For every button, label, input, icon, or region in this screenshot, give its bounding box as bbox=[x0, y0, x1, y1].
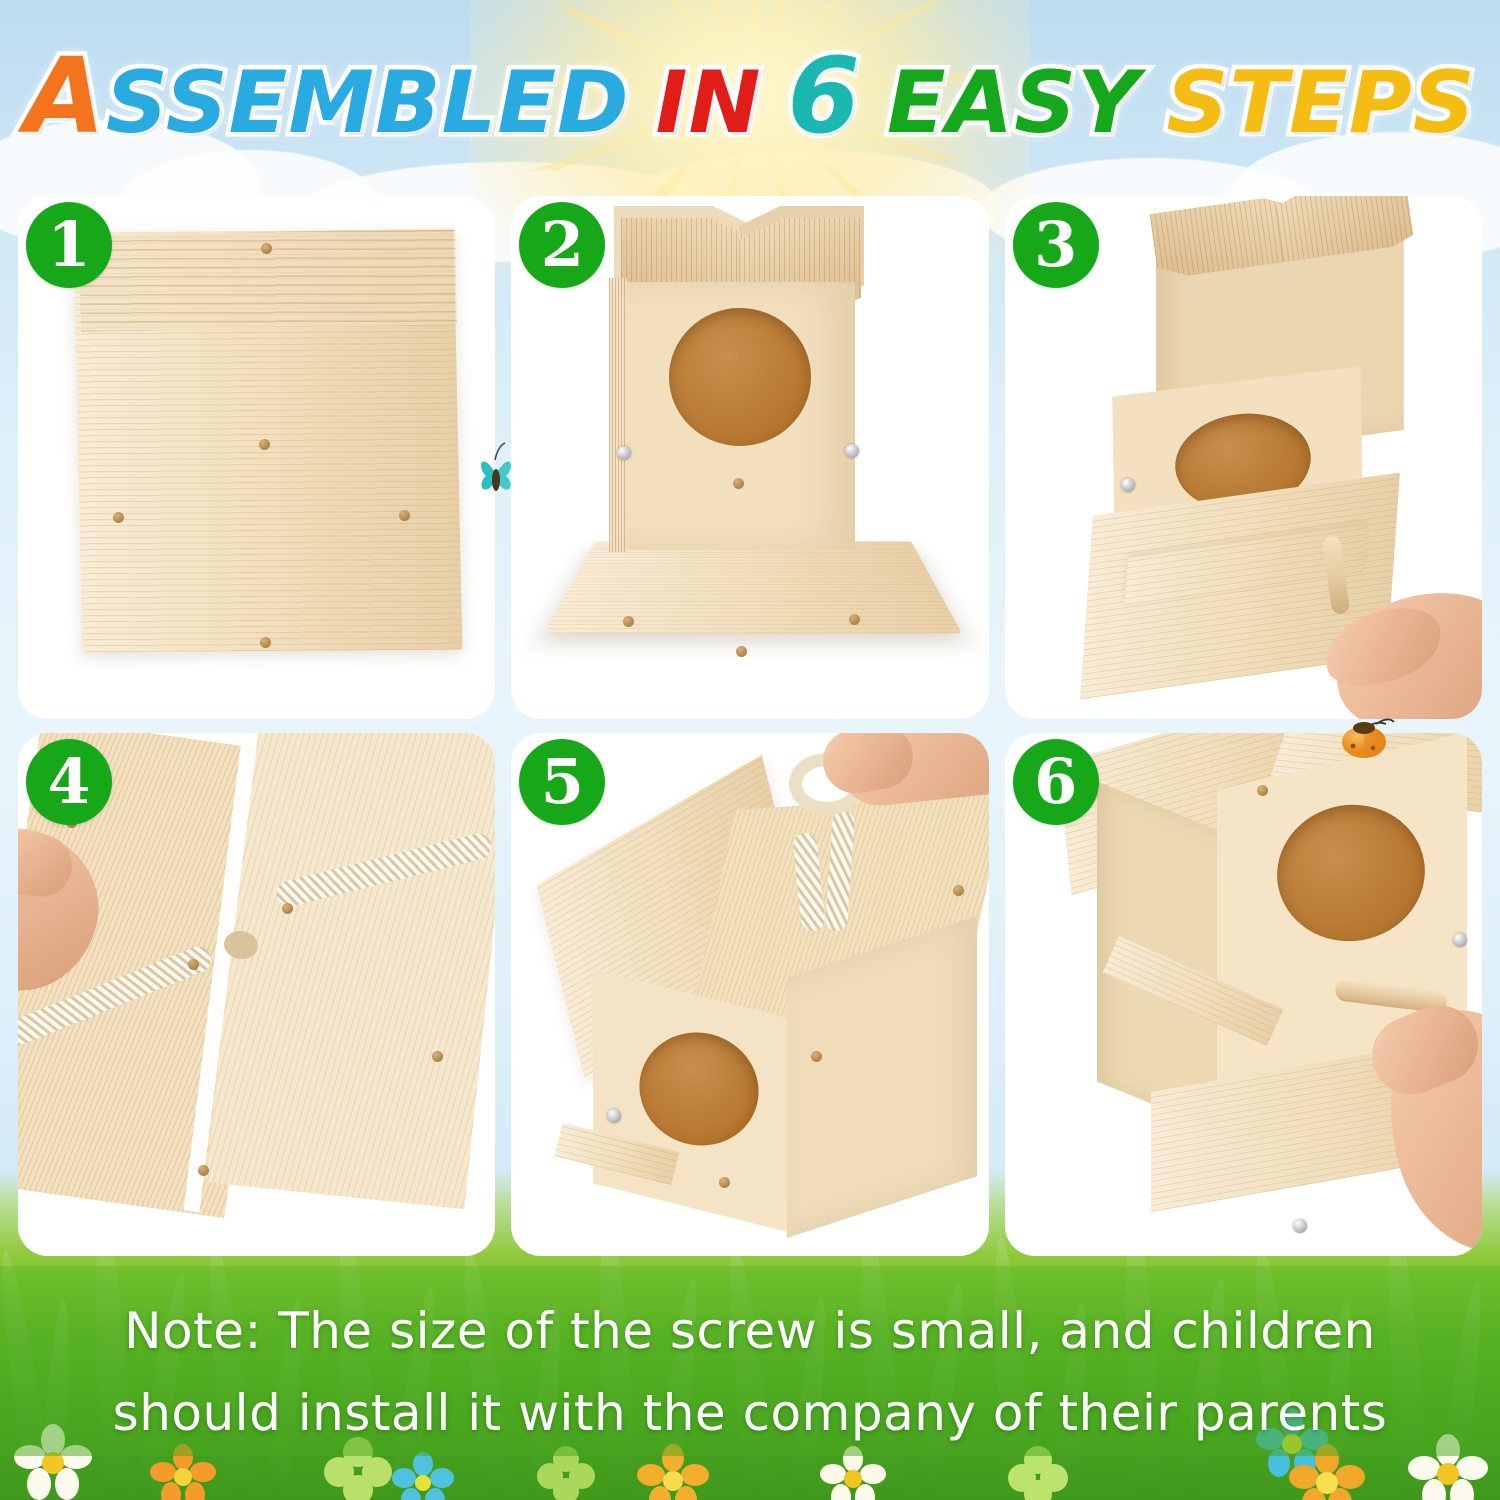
step-badge-4: 4 bbox=[26, 739, 112, 825]
steps-grid: 1 bbox=[18, 196, 1482, 1256]
note-text: Note: The size of the screw is small, an… bbox=[0, 1290, 1500, 1454]
title-word-3: 6 bbox=[787, 44, 860, 148]
step-card-1[interactable]: 1 bbox=[18, 196, 495, 719]
title-word-4: EASY bbox=[887, 51, 1141, 155]
title-word-2: IN bbox=[655, 51, 761, 155]
ladybug-icon bbox=[1340, 718, 1396, 768]
step-badge-2: 2 bbox=[519, 202, 605, 288]
step-card-4[interactable]: 4 bbox=[18, 733, 495, 1256]
step-card-6[interactable]: 6 bbox=[1005, 733, 1482, 1256]
step-card-5[interactable]: 5 bbox=[511, 733, 988, 1256]
step-card-2[interactable]: 2 bbox=[511, 196, 988, 719]
butterfly-icon bbox=[476, 440, 516, 508]
title-word-1: SSEMBLED bbox=[106, 51, 630, 155]
step-badge-3: 3 bbox=[1013, 202, 1099, 288]
step-badge-1: 1 bbox=[26, 202, 112, 288]
title-word-5: STEPS bbox=[1166, 51, 1475, 155]
page-title: ASSEMBLEDIN6EASYSTEPS bbox=[0, 44, 1500, 155]
title-word-0: A bbox=[24, 44, 106, 148]
poster-root: ASSEMBLEDIN6EASYSTEPS bbox=[0, 0, 1500, 1500]
step-badge-5: 5 bbox=[519, 739, 605, 825]
step-card-3[interactable]: 3 bbox=[1005, 196, 1482, 719]
blue-flower-icon bbox=[392, 1452, 454, 1500]
step-badge-6: 6 bbox=[1013, 739, 1099, 825]
